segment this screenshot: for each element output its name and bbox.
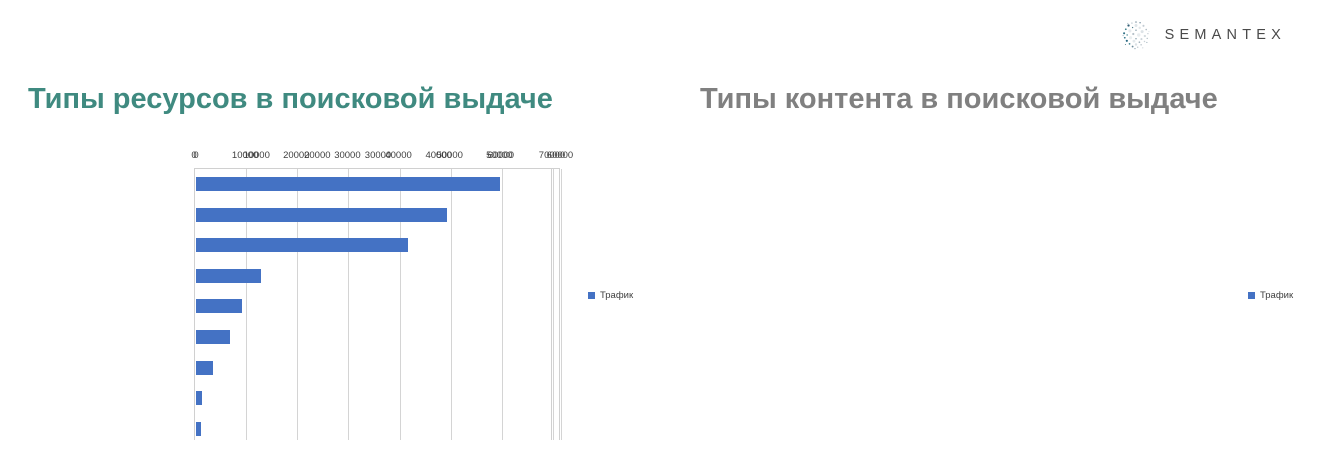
bar [196, 238, 408, 252]
legend-swatch-icon [588, 292, 595, 299]
x-tick-label: 40000 [385, 150, 411, 161]
x-axis-ticks-content-types: 010000200003000040000500006000070000 [194, 150, 552, 164]
gridline [553, 169, 554, 440]
legend-label: Трафик [600, 290, 633, 301]
bar [196, 330, 230, 344]
x-tick-label: 20000 [283, 150, 309, 161]
gridline [561, 169, 562, 440]
legend-label: Трафик [1260, 290, 1293, 301]
x-tick-label: 30000 [334, 150, 360, 161]
legend-content-types: Трафик [1248, 290, 1293, 301]
bar [196, 208, 447, 222]
bar [196, 361, 213, 375]
gridline [451, 169, 452, 440]
bar [196, 299, 242, 313]
legend-swatch-icon [1248, 292, 1255, 299]
plot-area-content-types: 010000200003000040000500006000070000 [194, 168, 552, 440]
chart-panel-content-types: Типы контента в поисковой выдаче [672, 0, 1344, 468]
chart-title-resource-types: Типы ресурсов в поисковой выдаче [28, 82, 553, 116]
legend-resource-types: Трафик [588, 290, 633, 301]
x-tick-label: 60000 [488, 150, 514, 161]
x-tick-label: 50000 [436, 150, 462, 161]
gridline [502, 169, 503, 440]
bar [196, 177, 500, 191]
x-tick-label: 0 [191, 150, 196, 161]
bar [196, 269, 261, 283]
chart-title-content-types: Типы контента в поисковой выдаче [700, 82, 1218, 116]
x-tick-label: 70000 [539, 150, 565, 161]
bar [196, 422, 201, 436]
bar [196, 391, 202, 405]
x-tick-label: 10000 [232, 150, 258, 161]
plot-frame-content-types [194, 168, 552, 440]
